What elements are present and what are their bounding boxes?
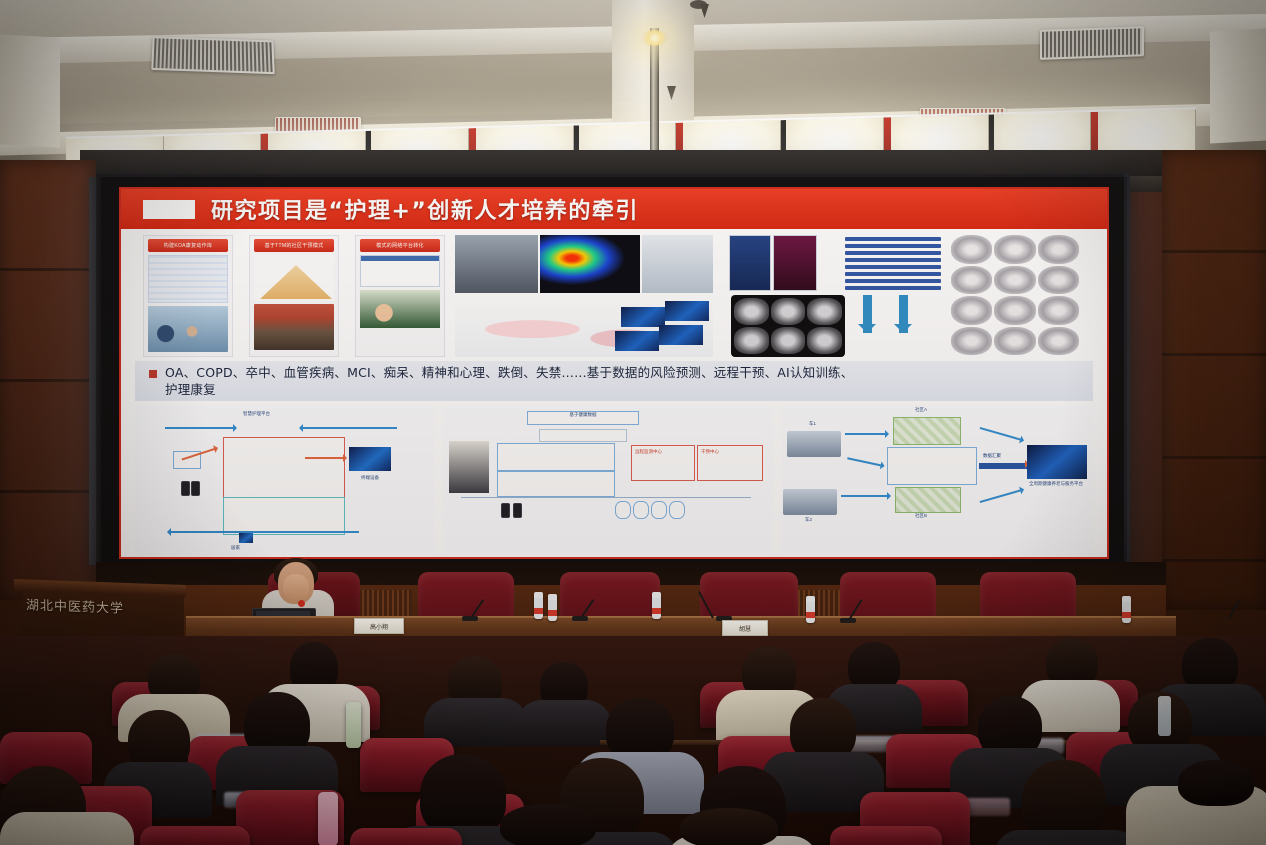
community-b-map bbox=[895, 487, 961, 513]
service-platform-thumbnail bbox=[1027, 445, 1087, 479]
center-top-strip bbox=[455, 235, 713, 293]
slide-center-images bbox=[455, 235, 713, 357]
microphone-base[interactable] bbox=[572, 616, 588, 621]
diagram-label: 居家 bbox=[231, 545, 240, 551]
diagram-community-network: 车1 车2 社区A 社区B bbox=[781, 405, 1093, 555]
slide-right-images bbox=[723, 233, 1083, 359]
slide-title-bar: 研究项目是“护理+”创新人才培养的牵引 bbox=[121, 189, 1107, 229]
diagram-header-node: 基于健康数据 bbox=[527, 411, 639, 425]
community-a-map bbox=[893, 417, 961, 445]
wall-panel-left bbox=[0, 160, 96, 600]
slide-title: 研究项目是“护理+”创新人才培养的牵引 bbox=[211, 193, 639, 225]
clinic-session-photo bbox=[455, 235, 538, 293]
diagram-label-platform: 全周期健康养老与服务平台 bbox=[1025, 481, 1087, 487]
presentation-slide: 研究项目是“护理+”创新人才培养的牵引 构建KOA康复动作库 基于TTM的社区干… bbox=[119, 187, 1109, 559]
microphone-base[interactable] bbox=[462, 616, 478, 621]
air-vent-icon bbox=[151, 36, 274, 74]
thumbnail-image bbox=[659, 325, 703, 345]
stage-transition-pyramid bbox=[254, 255, 334, 301]
speaker-lapel-pin bbox=[298, 600, 305, 607]
water-bottle[interactable] bbox=[1158, 696, 1171, 736]
diagram-subnode bbox=[539, 429, 627, 442]
bullet-marker-icon bbox=[149, 370, 157, 378]
mobile-clinic-vehicle bbox=[783, 489, 837, 515]
pink-water-bottle[interactable] bbox=[318, 792, 338, 845]
guest-name-card: 胡慧 bbox=[722, 620, 768, 636]
ceiling-beam-right bbox=[1210, 29, 1266, 144]
slide-body: 构建KOA康复动作库 基于TTM的社区干预模式 模式的网络平台转化 bbox=[121, 229, 1107, 557]
diagram-photo bbox=[449, 441, 489, 493]
slide-diagram-row: 智慧护理平台 终端设备 居家 bbox=[129, 405, 1099, 555]
down-arrow-icon bbox=[863, 295, 872, 333]
water-bottle[interactable] bbox=[652, 592, 661, 619]
led-display-screen[interactable]: 研究项目是“护理+”创新人才培养的牵引 构建KOA康复动作库 基于TTM的社区干… bbox=[96, 174, 1130, 568]
fmri-brain-heatmap bbox=[540, 235, 640, 293]
water-bottle[interactable] bbox=[1122, 596, 1131, 623]
thermos-bottle[interactable] bbox=[346, 702, 361, 748]
diagram-label: 干预中心 bbox=[701, 449, 719, 455]
web-platform-screenshot bbox=[360, 255, 440, 287]
diagram-info-node bbox=[887, 447, 977, 485]
ceiling-beam-left bbox=[0, 34, 60, 147]
slide-bullet-band: OA、COPD、卒中、血管疾病、MCI、痴呆、精神和心理、跌倒、失禁……基于数据… bbox=[135, 361, 1093, 401]
journal-cover-1 bbox=[729, 235, 771, 291]
air-vent-icon bbox=[1040, 26, 1144, 60]
diagram-label: 终端设备 bbox=[361, 475, 379, 481]
mobile-clinic-vehicle bbox=[787, 431, 841, 457]
auditorium-seat[interactable] bbox=[140, 826, 250, 845]
microphone-base[interactable] bbox=[840, 618, 856, 623]
podium-venue-label: 湖北中医药大学 bbox=[26, 594, 124, 616]
diagram-label: 远程监测中心 bbox=[635, 449, 662, 455]
lecture-hall-photo: 研究项目是“护理+”创新人才培养的牵引 构建KOA康复动作库 基于TTM的社区干… bbox=[0, 0, 1266, 845]
down-arrow-icon bbox=[899, 295, 908, 333]
sprinkler-icon bbox=[700, 4, 709, 18]
thumbnail-image bbox=[665, 301, 709, 321]
audience-area bbox=[0, 636, 1266, 845]
water-bottle[interactable] bbox=[806, 596, 815, 623]
bullet-line-2: 护理康复 bbox=[165, 381, 853, 398]
diagram-node-primary bbox=[223, 437, 345, 499]
panel-photo bbox=[254, 304, 334, 350]
diagram-label-vehicle-2: 车2 bbox=[805, 517, 812, 523]
ceiling-spotlight bbox=[641, 30, 668, 46]
thumbnail-image bbox=[621, 307, 665, 327]
diagram-label-vehicle-1: 车1 bbox=[809, 421, 816, 427]
auditorium-seat[interactable] bbox=[350, 828, 462, 845]
neuro-stimulation-diagram bbox=[455, 295, 713, 357]
panel-header-label: 构建KOA康复动作库 bbox=[148, 239, 228, 252]
diagram-node-secondary bbox=[223, 497, 345, 535]
bullet-line-1: OA、COPD、卒中、血管疾病、MCI、痴呆、精神和心理、跌倒、失禁……基于数据… bbox=[165, 364, 853, 381]
panel-header-label: 基于TTM的社区干预模式 bbox=[254, 239, 334, 252]
speaker-name-card: 高小翔 bbox=[354, 618, 404, 634]
platform-thumbnail bbox=[349, 447, 391, 471]
diagram-label: 智慧护理平台 bbox=[243, 411, 270, 417]
brain-mri-grid bbox=[731, 295, 845, 357]
slide-top-image-row: 构建KOA康复动作库 基于TTM的社区干预模式 模式的网络平台转化 bbox=[121, 233, 1107, 361]
slide-panel-platform: 模式的网络平台转化 bbox=[355, 235, 445, 357]
diagram-closed-loop-service: 智慧护理平台 终端设备 居家 bbox=[135, 405, 435, 555]
thumbnail-image bbox=[615, 331, 659, 351]
water-bottle[interactable] bbox=[534, 592, 543, 619]
slide-panel-ttm: 基于TTM的社区干预模式 bbox=[249, 235, 339, 357]
journal-cover-2 bbox=[773, 235, 817, 291]
panel-photo bbox=[360, 290, 440, 328]
speaker-face bbox=[283, 574, 309, 600]
slide-panel-koa: 构建KOA康复动作库 bbox=[143, 235, 233, 357]
auditorium-seat[interactable] bbox=[830, 826, 942, 845]
diagram-label-community-b: 社区B bbox=[915, 513, 927, 519]
panel-chart-box bbox=[148, 255, 228, 303]
wall-panel-right bbox=[1162, 150, 1266, 610]
water-bottle[interactable] bbox=[548, 594, 557, 621]
diagram-health-service-chain: 基于健康数据 远程监测中心 干预中心 bbox=[443, 405, 773, 555]
right-text-lines bbox=[845, 237, 941, 289]
diagram-label-data-flow: 数据汇聚 bbox=[983, 453, 1001, 459]
brain-activation-maps bbox=[951, 235, 1079, 355]
panel-photo bbox=[148, 306, 228, 352]
panel-header-label: 模式的网络平台转化 bbox=[360, 239, 440, 252]
title-accent-square bbox=[143, 200, 195, 219]
diagram-label-community-a: 社区A bbox=[915, 407, 927, 413]
rehab-robot-illustration bbox=[642, 235, 713, 293]
